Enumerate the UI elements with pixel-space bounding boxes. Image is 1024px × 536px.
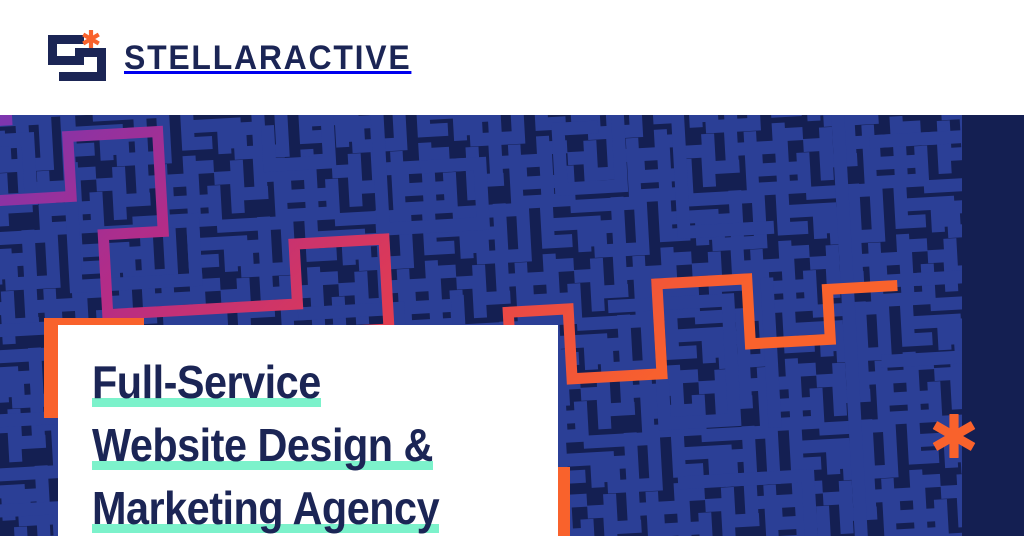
logo-link[interactable]: STELLARACTIVE [46,27,430,89]
headline-line-3: Marketing Agency [92,485,478,531]
orange-asterisk-endpoint-icon [929,411,979,461]
headline-line-2: Website Design & [92,422,471,468]
wordmark-text: STELLARACTIVE [124,41,411,75]
stellaractive-s-mark-icon [46,27,108,89]
hero-headline-card: Full-Service Website Design & Marketing … [58,325,558,536]
site-header: STELLARACTIVE [0,0,1024,115]
headline-line-2-text: Website Design & [92,422,433,468]
right-navy-gutter [962,115,1024,536]
headline-line-3-text: Marketing Agency [92,485,439,531]
hero-banner-page: STELLARACTIVE [0,0,1024,536]
headline-line-1-text: Full-Service [92,359,321,405]
page-title: Full-Service Website Design & Marketing … [92,359,558,531]
hero-section: Full-Service Website Design & Marketing … [0,115,1024,536]
headline-line-1: Full-Service [92,359,346,405]
